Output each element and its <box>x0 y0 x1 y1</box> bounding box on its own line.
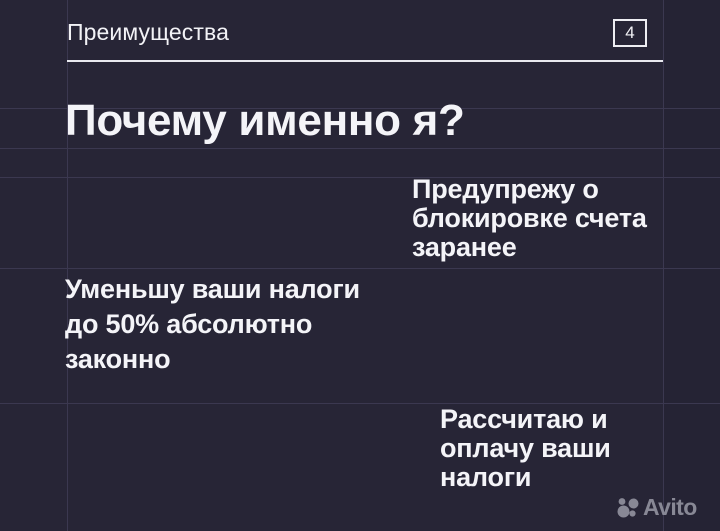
presentation-slide: Преимущества 4 Почему именно я? Предупре… <box>0 0 720 531</box>
slide-main-heading: Почему именно я? <box>65 95 465 147</box>
header-divider <box>67 60 663 62</box>
avito-watermark: Avito <box>617 496 697 519</box>
gridline-horizontal-5 <box>0 403 720 404</box>
benefit-item-warn-blocking: Предупрежу о блокировке счета заранее <box>412 175 682 262</box>
gridline-horizontal-4 <box>0 268 720 269</box>
page-number-badge: 4 <box>613 19 647 47</box>
gridline-vertical-left <box>67 0 68 531</box>
benefit-item-calculate-pay: Рассчитаю и оплачу ваши налоги <box>440 405 700 492</box>
avito-logo-icon <box>617 497 639 519</box>
avito-wordmark: Avito <box>643 496 697 519</box>
benefit-item-reduce-taxes: Уменьшу ваши налоги до 50% абсолютно зак… <box>65 272 365 377</box>
page-number-value: 4 <box>625 23 634 43</box>
slide-section-title: Преимущества <box>67 17 229 47</box>
gridline-horizontal-2 <box>0 148 720 149</box>
